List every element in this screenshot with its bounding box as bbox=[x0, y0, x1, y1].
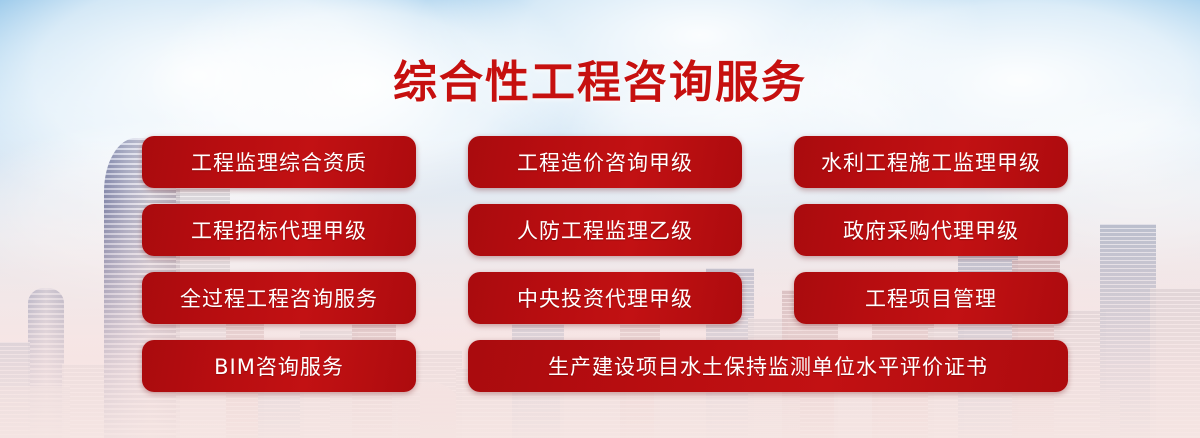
badge-row: 工程监理综合资质 工程造价咨询甲级 水利工程施工监理甲级 bbox=[142, 136, 1068, 188]
qualification-badge[interactable]: 中央投资代理甲级 bbox=[468, 272, 742, 324]
building bbox=[1150, 288, 1200, 438]
qualification-badge[interactable]: 工程项目管理 bbox=[794, 272, 1068, 324]
qualification-badge[interactable]: 水利工程施工监理甲级 bbox=[794, 136, 1068, 188]
building bbox=[0, 386, 70, 438]
qualification-banner: 综合性工程咨询服务 工程监理综合资质 工程造价咨询甲级 水利工程施工监理甲级 工… bbox=[0, 0, 1200, 438]
badge-row: 全过程工程咨询服务 中央投资代理甲级 工程项目管理 bbox=[142, 272, 1068, 324]
qualification-badge[interactable]: 全过程工程咨询服务 bbox=[142, 272, 416, 324]
qualification-badge[interactable]: 政府采购代理甲级 bbox=[794, 204, 1068, 256]
qualification-badge[interactable]: 工程监理综合资质 bbox=[142, 136, 416, 188]
badge-row: BIM咨询服务 生产建设项目水土保持监测单位水平评价证书 bbox=[142, 340, 1068, 392]
qualification-badge[interactable]: 工程造价咨询甲级 bbox=[468, 136, 742, 188]
qualification-badge[interactable]: 工程招标代理甲级 bbox=[142, 204, 416, 256]
badge-row: 工程招标代理甲级 人防工程监理乙级 政府采购代理甲级 bbox=[142, 204, 1068, 256]
page-title: 综合性工程咨询服务 bbox=[0, 46, 1200, 110]
qualification-badge-grid: 工程监理综合资质 工程造价咨询甲级 水利工程施工监理甲级 工程招标代理甲级 人防… bbox=[142, 136, 1068, 408]
qualification-badge[interactable]: 生产建设项目水土保持监测单位水平评价证书 bbox=[468, 340, 1068, 392]
qualification-badge[interactable]: BIM咨询服务 bbox=[142, 340, 416, 392]
qualification-badge[interactable]: 人防工程监理乙级 bbox=[468, 204, 742, 256]
